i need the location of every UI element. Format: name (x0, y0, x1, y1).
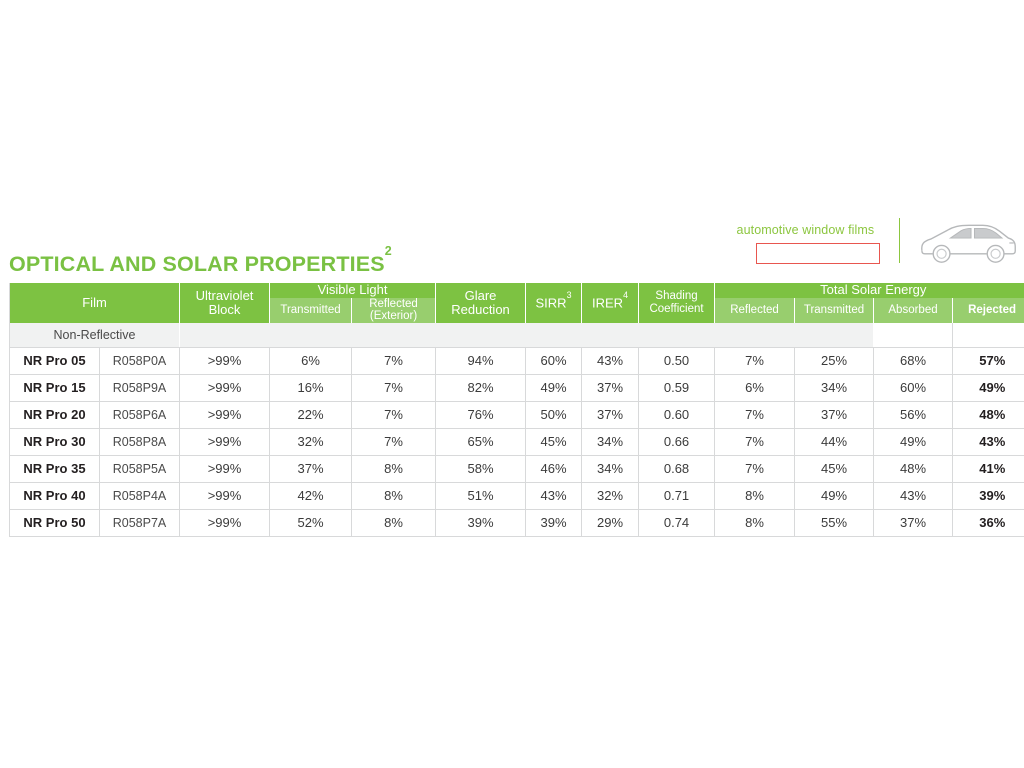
cell-vl-r: 8% (352, 455, 436, 482)
cell-vl-t: 16% (270, 374, 352, 401)
cell-part: R058P8A (100, 428, 180, 455)
section-row-non-reflective: Non-Reflective (10, 323, 1024, 347)
cell-vl-r: 7% (352, 374, 436, 401)
brand-divider (899, 218, 900, 263)
brand-logo-placeholder (756, 243, 880, 264)
section-label: Non-Reflective (10, 323, 180, 347)
header-film: Film (10, 283, 180, 323)
section-spacer (180, 323, 874, 347)
header-irer-label: IRER (592, 296, 623, 311)
cell-tse-a: 56% (874, 401, 953, 428)
cell-tse-a: 37% (874, 509, 953, 536)
cell-tse-r: 8% (715, 482, 795, 509)
cell-part: R058P9A (100, 374, 180, 401)
cell-tse-r: 7% (715, 428, 795, 455)
car-side-icon (918, 218, 1018, 266)
cell-glare: 82% (436, 374, 526, 401)
cell-vl-t: 6% (270, 347, 352, 374)
cell-irer: 34% (582, 455, 639, 482)
cell-irer: 43% (582, 347, 639, 374)
header-irer-superscript: 4 (623, 290, 628, 300)
subheader-tse-transmitted: Transmitted (795, 298, 874, 324)
cell-irer: 37% (582, 374, 639, 401)
table-row: NR Pro 50R058P7A>99%52%8%39%39%29%0.748%… (10, 509, 1024, 536)
cell-shading: 0.50 (639, 347, 715, 374)
cell-tse-t: 45% (795, 455, 874, 482)
cell-film: NR Pro 40 (10, 482, 100, 509)
cell-uv: >99% (180, 455, 270, 482)
cell-irer: 32% (582, 482, 639, 509)
brand-text-block: automotive window films (718, 218, 893, 264)
page-title: OPTICAL AND SOLAR PROPERTIES2 (9, 252, 392, 277)
cell-vl-t: 32% (270, 428, 352, 455)
table-row: NR Pro 35R058P5A>99%37%8%58%46%34%0.687%… (10, 455, 1024, 482)
cell-vl-r: 7% (352, 428, 436, 455)
cell-irer: 37% (582, 401, 639, 428)
cell-glare: 65% (436, 428, 526, 455)
cell-tse-r: 8% (715, 509, 795, 536)
cell-tse-rej: 57% (953, 347, 1024, 374)
cell-sirr: 49% (526, 374, 582, 401)
subheader-tse-absorbed: Absorbed (874, 298, 953, 324)
header-row-groups: Film Ultraviolet Block Visible Light Gla… (10, 283, 1024, 298)
cell-tse-t: 55% (795, 509, 874, 536)
page-root: automotive window films (0, 0, 1024, 768)
cell-sirr: 50% (526, 401, 582, 428)
subheader-tse-rejected: Rejected (953, 298, 1024, 324)
cell-tse-rej: 49% (953, 374, 1024, 401)
cell-sirr: 43% (526, 482, 582, 509)
cell-film: NR Pro 50 (10, 509, 100, 536)
brand-tagline: automotive window films (718, 223, 893, 237)
table-row: NR Pro 40R058P4A>99%42%8%51%43%32%0.718%… (10, 482, 1024, 509)
cell-tse-a: 68% (874, 347, 953, 374)
cell-uv: >99% (180, 482, 270, 509)
cell-part: R058P5A (100, 455, 180, 482)
cell-part: R058P0A (100, 347, 180, 374)
table-row: NR Pro 05R058P0A>99%6%7%94%60%43%0.507%2… (10, 347, 1024, 374)
subheader-tse-reflected: Reflected (715, 298, 795, 324)
cell-glare: 76% (436, 401, 526, 428)
table-row: NR Pro 30R058P8A>99%32%7%65%45%34%0.667%… (10, 428, 1024, 455)
header-sirr-superscript: 3 (567, 290, 572, 300)
cell-tse-a: 60% (874, 374, 953, 401)
cell-vl-r: 7% (352, 347, 436, 374)
cell-glare: 39% (436, 509, 526, 536)
cell-film: NR Pro 15 (10, 374, 100, 401)
header-ultraviolet-block: Ultraviolet Block (180, 283, 270, 323)
cell-sirr: 39% (526, 509, 582, 536)
cell-shading: 0.59 (639, 374, 715, 401)
cell-film: NR Pro 30 (10, 428, 100, 455)
cell-tse-rej: 48% (953, 401, 1024, 428)
cell-tse-a: 49% (874, 428, 953, 455)
cell-shading: 0.74 (639, 509, 715, 536)
cell-vl-t: 52% (270, 509, 352, 536)
cell-tse-rej: 41% (953, 455, 1024, 482)
cell-part: R058P6A (100, 401, 180, 428)
cell-vl-r: 8% (352, 482, 436, 509)
page-title-superscript: 2 (385, 244, 392, 258)
cell-shading: 0.60 (639, 401, 715, 428)
cell-vl-t: 22% (270, 401, 352, 428)
cell-tse-t: 25% (795, 347, 874, 374)
cell-tse-r: 7% (715, 347, 795, 374)
cell-uv: >99% (180, 347, 270, 374)
cell-part: R058P4A (100, 482, 180, 509)
header-irer: IRER4 (582, 283, 639, 323)
cell-tse-t: 37% (795, 401, 874, 428)
header-sirr: SIRR3 (526, 283, 582, 323)
cell-irer: 34% (582, 428, 639, 455)
cell-tse-rej: 43% (953, 428, 1024, 455)
header-shading-coefficient: Shading Coefficient (639, 283, 715, 323)
cell-tse-rej: 36% (953, 509, 1024, 536)
cell-uv: >99% (180, 374, 270, 401)
cell-vl-r: 7% (352, 401, 436, 428)
section-spacer-absorbed (874, 323, 953, 347)
header-visible-light: Visible Light (270, 283, 436, 298)
page-title-text: OPTICAL AND SOLAR PROPERTIES (9, 252, 385, 276)
cell-tse-a: 43% (874, 482, 953, 509)
table-row: NR Pro 20R058P6A>99%22%7%76%50%37%0.607%… (10, 401, 1024, 428)
cell-sirr: 46% (526, 455, 582, 482)
table-body: Non-Reflective NR Pro 05R058P0A>99%6%7%9… (10, 323, 1024, 536)
cell-shading: 0.71 (639, 482, 715, 509)
cell-tse-t: 44% (795, 428, 874, 455)
cell-tse-r: 7% (715, 455, 795, 482)
cell-film: NR Pro 05 (10, 347, 100, 374)
cell-film: NR Pro 20 (10, 401, 100, 428)
cell-tse-t: 34% (795, 374, 874, 401)
table-header: Film Ultraviolet Block Visible Light Gla… (10, 283, 1024, 323)
cell-tse-rej: 39% (953, 482, 1024, 509)
cell-tse-r: 7% (715, 401, 795, 428)
cell-sirr: 45% (526, 428, 582, 455)
cell-glare: 51% (436, 482, 526, 509)
cell-tse-a: 48% (874, 455, 953, 482)
optical-solar-properties-table: Film Ultraviolet Block Visible Light Gla… (9, 283, 1024, 537)
brand-header: automotive window films (718, 218, 1018, 270)
cell-uv: >99% (180, 401, 270, 428)
subheader-vl-transmitted: Transmitted (270, 298, 352, 324)
cell-film: NR Pro 35 (10, 455, 100, 482)
cell-irer: 29% (582, 509, 639, 536)
cell-sirr: 60% (526, 347, 582, 374)
cell-shading: 0.68 (639, 455, 715, 482)
cell-glare: 58% (436, 455, 526, 482)
cell-vl-r: 8% (352, 509, 436, 536)
table-row: NR Pro 15R058P9A>99%16%7%82%49%37%0.596%… (10, 374, 1024, 401)
cell-vl-t: 37% (270, 455, 352, 482)
section-spacer-rejected (953, 323, 1024, 347)
cell-shading: 0.66 (639, 428, 715, 455)
cell-vl-t: 42% (270, 482, 352, 509)
cell-glare: 94% (436, 347, 526, 374)
cell-part: R058P7A (100, 509, 180, 536)
header-sirr-label: SIRR (536, 296, 567, 311)
cell-uv: >99% (180, 428, 270, 455)
cell-tse-t: 49% (795, 482, 874, 509)
cell-uv: >99% (180, 509, 270, 536)
subheader-vl-reflected-exterior: Reflected (Exterior) (352, 298, 436, 324)
header-glare-reduction: Glare Reduction (436, 283, 526, 323)
cell-tse-r: 6% (715, 374, 795, 401)
header-total-solar-energy: Total Solar Energy (715, 283, 1024, 298)
